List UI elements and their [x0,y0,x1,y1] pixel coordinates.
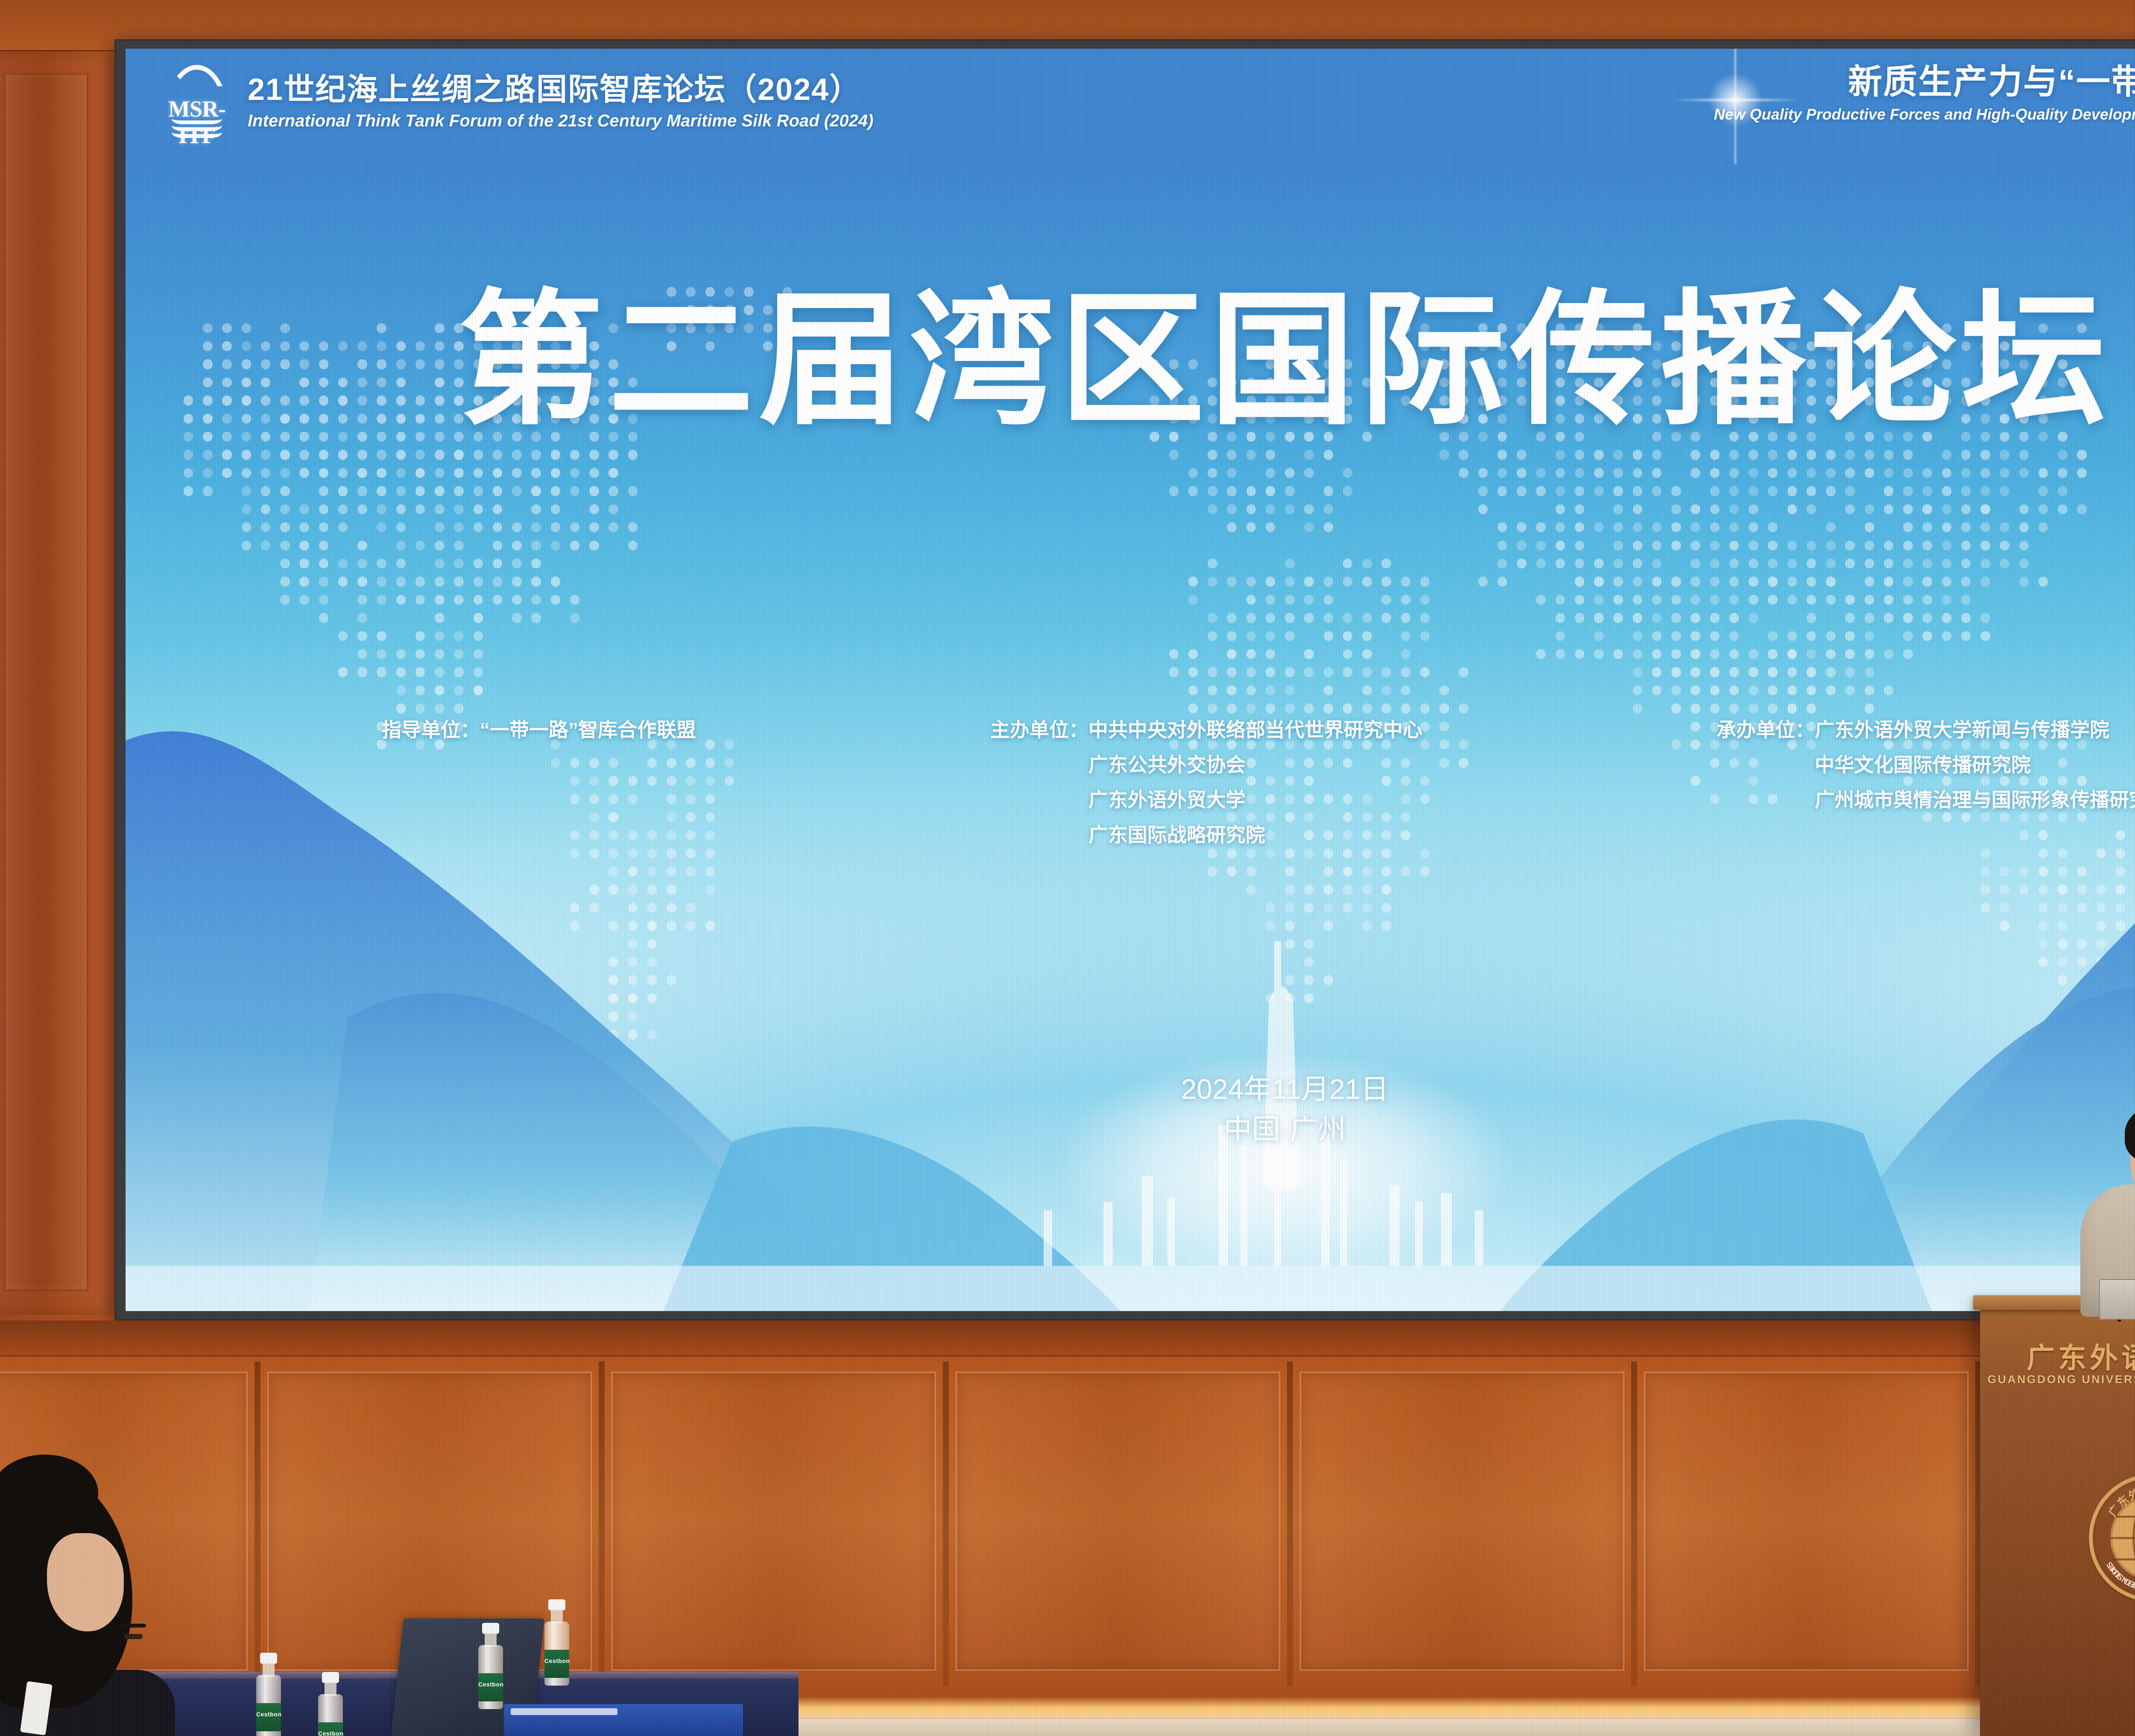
guidance-unit-column: 指导单位： “一带一路”智库合作联盟 [382,713,696,748]
host-unit-item: 广东外语外贸大学 [1088,783,1422,818]
lower-wall-panel [1300,1372,1624,1671]
organizer-unit-item: 广东外语外贸大学新闻与传播学院 [1815,713,2135,748]
led-screen-frame: MSR-ITF 21世纪海上丝绸之路国际智库论坛（2024） Internati… [114,39,2135,1320]
header-right-group: 新质生产力与“一带一路”高质量发展 New Quality Productive… [1714,64,2135,123]
organizer-unit-label: 承办单位： [1717,713,1815,818]
lower-wall-panel [1644,1372,1968,1671]
bottle-label: Cestbon [256,1711,281,1718]
host-unit-label: 主办单位： [990,713,1088,853]
lectern: 广东外语外贸大学 GUANGDONG UNIVERSITY OF FOREIGN… [1980,1305,2135,1736]
lower-wall-seam [1287,1361,1293,1686]
led-screen: MSR-ITF 21世纪海上丝绸之路国际智库论坛（2024） Internati… [126,49,2135,1311]
seated-attendee [0,1469,184,1736]
host-unit-column: 主办单位： 中共中央对外联络部当代世界研究中心 广东公共外交协会 广东外语外贸大… [990,713,1422,853]
lower-wall-seam [943,1361,949,1686]
speaker-hair [2125,1101,2135,1165]
event-date: 2024年11月21日 [126,1069,2135,1110]
forum-theme-cn: 新质生产力与“一带一路”高质量发展 [1714,64,2135,100]
front-row-documents [504,1704,743,1736]
wall-panel-left-inner [4,73,88,1291]
organizer-unit-item: 广州城市舆情治理与国际形象传播研究中心 [1815,783,2135,818]
lower-wall-seam [599,1361,605,1686]
lower-wall-top-band [0,1320,2135,1356]
organizer-unit-column: 承办单位： 广东外语外贸大学新闻与传播学院 中华文化国际传播研究院 广州城市舆情… [1717,713,2135,818]
organisers-block: 指导单位： “一带一路”智库合作联盟 主办单位： 中共中央对外联络部当代世界研究… [126,713,2135,853]
university-emblem-icon: 广东外语外贸大学 GUANGDONG UNIVERSITY OF FOREIGN… [2089,1474,2135,1602]
bottle-label: Cestbon [544,1657,569,1664]
event-datetime-location: 2024年11月21日 中国·广州 [126,1069,2135,1149]
page-title: 第二届湾区国际传播论坛 [126,288,2135,433]
event-location: 中国·广州 [126,1110,2135,1150]
forum-title-cn: 21世纪海上丝绸之路国际智库论坛（2024） [248,73,873,106]
host-unit-item: 广东公共外交协会 [1088,748,1422,783]
lower-wall-panel [611,1372,936,1671]
center-light-glow [965,1004,1605,1311]
guidance-unit-label: 指导单位： [382,713,480,748]
lower-wall-panel [956,1372,1280,1671]
bottle-label: Cestbon [318,1730,343,1736]
screen-header: MSR-ITF 21世纪海上丝绸之路国际智库论坛（2024） Internati… [126,64,2135,140]
speaker-figure [2076,1095,2135,1313]
lower-wall-seam [254,1361,260,1686]
lectern-name-cn: 广东外语外贸大学 [1980,1335,2135,1376]
lectern-name-en: GUANGDONG UNIVERSITY OF FOREIGN STUDIES [1980,1373,2135,1386]
forum-title-en: International Think Tank Forum of the 21… [248,111,873,131]
forum-theme-en: New Quality Productive Forces and High-Q… [1714,105,2135,123]
bottle-label: Cestbon [478,1681,503,1688]
guidance-unit-item: “一带一路”智库合作联盟 [480,713,696,748]
header-left-group: MSR-ITF 21世纪海上丝绸之路国际智库论坛（2024） Internati… [161,64,873,140]
lectern-laptop [2099,1279,2135,1320]
host-unit-item: 中共中央对外联络部当代世界研究中心 [1088,713,1422,748]
organizer-unit-item: 中华文化国际传播研究院 [1815,748,2135,783]
lower-wall-seam [1631,1361,1637,1686]
host-unit-item: 广东国际战略研究院 [1088,818,1422,853]
emblem-ring-en: GUANGDONG UNIVERSITY OF FOREIGN STUDIES [2093,1478,2135,1598]
msr-itf-wave-logo-icon: MSR-ITF [161,64,233,140]
conference-hall-scene: MSR-ITF 21世纪海上丝绸之路国际智库论坛（2024） Internati… [0,0,2135,1736]
